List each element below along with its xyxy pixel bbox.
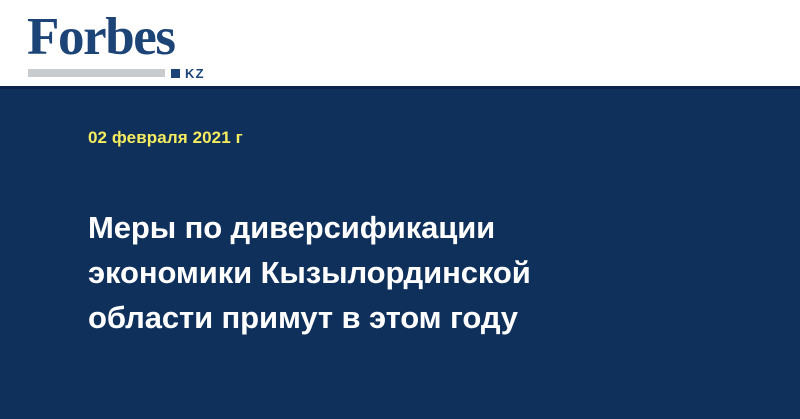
- article-card: Forbes KZ 02 февраля 2021 г Меры по диве…: [0, 0, 800, 419]
- headline-line: Меры по диверсификации: [88, 205, 688, 250]
- headline-line: области примут в этом году: [88, 295, 688, 340]
- navy-square-icon: [171, 69, 180, 78]
- logo-country-code: KZ: [185, 67, 205, 80]
- headline-line: экономики Кызылординской: [88, 250, 688, 295]
- forbes-kz-logo[interactable]: Forbes KZ: [27, 11, 227, 77]
- site-header: Forbes KZ: [0, 0, 800, 86]
- article-headline: Меры по диверсификации экономики Кызылор…: [88, 205, 688, 340]
- gray-bar-icon: [28, 69, 165, 77]
- article-hero: 02 февраля 2021 г Меры по диверсификации…: [0, 86, 800, 419]
- forbes-wordmark: Forbes: [27, 11, 175, 64]
- article-date: 02 февраля 2021 г: [88, 128, 243, 148]
- hero-top-divider: [0, 86, 800, 89]
